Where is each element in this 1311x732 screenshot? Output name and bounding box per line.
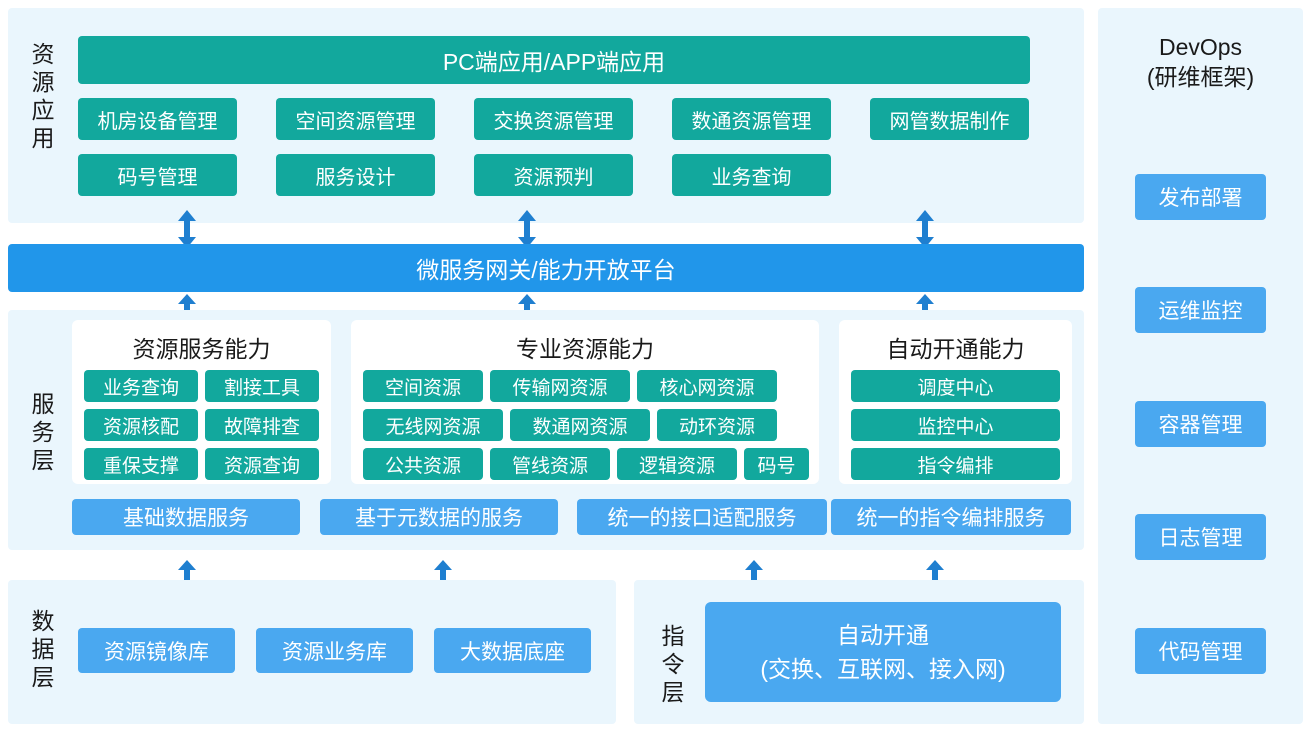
- service-card-title-resource-service: 资源服务能力: [72, 330, 331, 364]
- service-layer-label-line-2: 务: [20, 418, 66, 446]
- service-layer-label-line-3: 层: [20, 446, 66, 474]
- devops-item-fabu-bushu[interactable]: 发布部署: [1135, 174, 1266, 220]
- application-layer-label-line-3: 应: [20, 96, 66, 124]
- data-chip-dashuju-dizuo[interactable]: 大数据底座: [434, 628, 591, 673]
- devops-title: DevOps (研维框架): [1098, 32, 1303, 92]
- arrow-app-gateway-1: [177, 210, 197, 248]
- data-layer-label-line-1: 数: [20, 607, 66, 635]
- service-layer-label: 服 务 层: [20, 390, 66, 474]
- command-box-line-1: 自动开通: [837, 618, 929, 652]
- data-chip-ziyuan-jingxiang-ku[interactable]: 资源镜像库: [78, 628, 235, 673]
- command-layer-label-line-1: 指: [650, 622, 696, 650]
- service-chip-donghuan-ziyuan[interactable]: 动环资源: [657, 409, 777, 441]
- service-chip-zhiling-bianpai[interactable]: 指令编排: [851, 448, 1060, 480]
- service-chip-diaodu-zhongxin[interactable]: 调度中心: [851, 370, 1060, 402]
- devops-panel: [1098, 8, 1303, 724]
- command-layer-label-line-2: 令: [650, 650, 696, 678]
- command-layer-label-line-3: 层: [650, 678, 696, 706]
- pc-app-bar[interactable]: PC端应用/APP端应用: [78, 36, 1030, 84]
- service-bar-zhiling-bianpai-fuwu[interactable]: 统一的指令编排服务: [831, 499, 1071, 535]
- service-layer-label-line-1: 服: [20, 390, 66, 418]
- service-chip-chuanshuwang-ziyuan[interactable]: 传输网资源: [490, 370, 630, 402]
- app-chip-jiaohuan-ziyuan-guanli[interactable]: 交换资源管理: [474, 98, 633, 140]
- architecture-diagram: 资 源 应 用 PC端应用/APP端应用 机房设备管理 空间资源管理 交换资源管…: [0, 0, 1311, 732]
- service-chip-zhongbao-zhicheng[interactable]: 重保支撑: [84, 448, 198, 480]
- service-chip-shutongwang-ziyuan[interactable]: 数通网资源: [510, 409, 650, 441]
- command-layer-label: 指 令 层: [650, 622, 696, 706]
- devops-item-rizhi-guanli[interactable]: 日志管理: [1135, 514, 1266, 560]
- devops-item-yunwei-jiankong[interactable]: 运维监控: [1135, 287, 1266, 333]
- arrow-app-gateway-2: [517, 210, 537, 248]
- data-layer-label-line-3: 层: [20, 663, 66, 691]
- service-chip-kongjian-ziyuan[interactable]: 空间资源: [363, 370, 483, 402]
- arrow-app-gateway-3: [915, 210, 935, 248]
- service-chip-guanxian-ziyuan[interactable]: 管线资源: [490, 448, 610, 480]
- service-bar-jichu-shuju-fuwu[interactable]: 基础数据服务: [72, 499, 300, 535]
- data-chip-ziyuan-yewu-ku[interactable]: 资源业务库: [256, 628, 413, 673]
- app-chip-kongjian-ziyuan-guanli[interactable]: 空间资源管理: [276, 98, 435, 140]
- devops-title-line-1: DevOps: [1098, 32, 1303, 62]
- command-box-line-2: (交换、互联网、接入网): [760, 652, 1005, 686]
- app-chip-ziyuan-yupan[interactable]: 资源预判: [474, 154, 633, 196]
- gateway-bar[interactable]: 微服务网关/能力开放平台: [8, 244, 1084, 292]
- devops-item-rongqi-guanli[interactable]: 容器管理: [1135, 401, 1266, 447]
- service-chip-guzhang-paicha[interactable]: 故障排查: [205, 409, 319, 441]
- service-chip-yewu-chaxun[interactable]: 业务查询: [84, 370, 198, 402]
- app-chip-shutong-ziyuan-guanli[interactable]: 数通资源管理: [672, 98, 831, 140]
- service-chip-gejie-gongju[interactable]: 割接工具: [205, 370, 319, 402]
- service-card-title-auto-provisioning: 自动开通能力: [839, 330, 1072, 364]
- app-chip-mahao-guanli[interactable]: 码号管理: [78, 154, 237, 196]
- app-chip-wangguan-shuju-zhizuo[interactable]: 网管数据制作: [870, 98, 1029, 140]
- devops-item-daima-guanli[interactable]: 代码管理: [1135, 628, 1266, 674]
- app-chip-fuwu-sheji[interactable]: 服务设计: [276, 154, 435, 196]
- devops-title-line-2: (研维框架): [1098, 62, 1303, 92]
- service-card-title-professional-resource: 专业资源能力: [351, 330, 819, 364]
- data-layer-label: 数 据 层: [20, 607, 66, 691]
- app-chip-yewu-chaxun[interactable]: 业务查询: [672, 154, 831, 196]
- service-chip-hexinwang-ziyuan[interactable]: 核心网资源: [637, 370, 777, 402]
- application-layer-label-line-2: 源: [20, 68, 66, 96]
- service-chip-ziyuan-chaxun[interactable]: 资源查询: [205, 448, 319, 480]
- data-layer-label-line-2: 据: [20, 635, 66, 663]
- service-chip-ziyuan-hepei[interactable]: 资源核配: [84, 409, 198, 441]
- service-chip-mahao[interactable]: 码号: [744, 448, 809, 480]
- application-layer-label: 资 源 应 用: [20, 40, 66, 152]
- service-chip-wuxianwang-ziyuan[interactable]: 无线网资源: [363, 409, 503, 441]
- application-layer-label-line-1: 资: [20, 40, 66, 68]
- service-chip-jiankong-zhongxin[interactable]: 监控中心: [851, 409, 1060, 441]
- service-bar-yuanshuju-fuwu[interactable]: 基于元数据的服务: [320, 499, 558, 535]
- application-layer-label-line-4: 用: [20, 124, 66, 152]
- service-chip-gonggong-ziyuan[interactable]: 公共资源: [363, 448, 483, 480]
- service-chip-luoji-ziyuan[interactable]: 逻辑资源: [617, 448, 737, 480]
- service-bar-jiekou-shipei-fuwu[interactable]: 统一的接口适配服务: [577, 499, 827, 535]
- command-auto-provisioning-box[interactable]: 自动开通 (交换、互联网、接入网): [705, 602, 1061, 702]
- app-chip-jifang-shebei-guanli[interactable]: 机房设备管理: [78, 98, 237, 140]
